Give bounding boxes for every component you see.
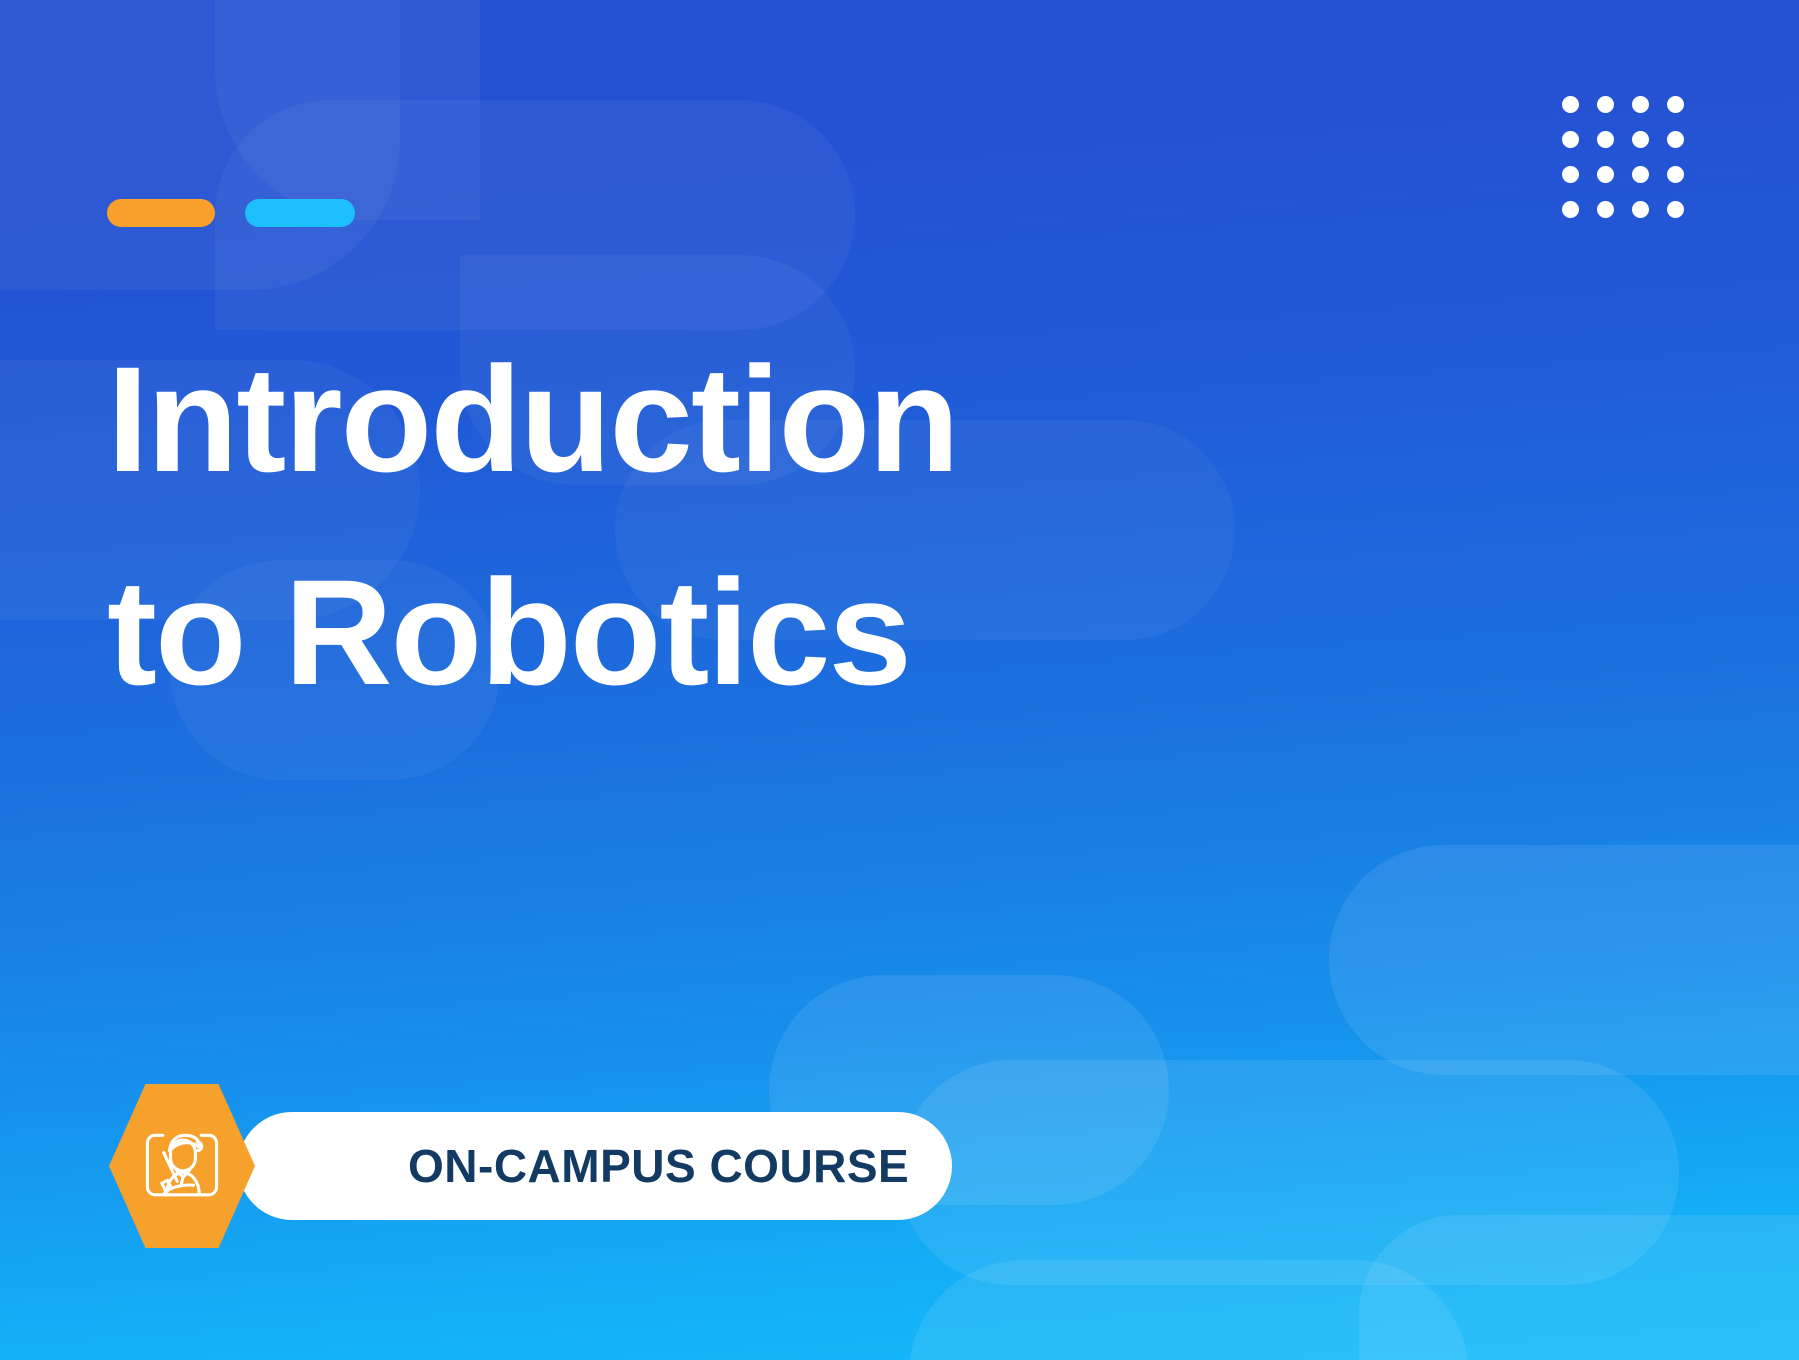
dot — [1667, 131, 1684, 148]
decor-blob-12 — [1359, 1215, 1799, 1360]
page-title-line-2: to Robotics — [107, 526, 1257, 739]
dot — [1597, 166, 1614, 183]
accent-bar-cyan — [245, 199, 355, 227]
dot — [1597, 131, 1614, 148]
instructor-icon — [134, 1118, 230, 1214]
accent-bars — [107, 199, 355, 227]
badge-label: ON-CAMPUS COURSE — [408, 1139, 909, 1193]
accent-bar-orange — [107, 199, 215, 227]
decor-blob-11 — [909, 1260, 1469, 1360]
dot-grid-icon — [1562, 96, 1702, 236]
badge-hexagon — [109, 1084, 255, 1248]
course-card: Introduction to Robotics ON-CAMPUS COURS… — [0, 0, 1799, 1360]
page-title-line-1: Introduction — [107, 313, 1257, 526]
dot — [1632, 166, 1649, 183]
dot — [1632, 96, 1649, 113]
dot — [1562, 201, 1579, 218]
decor-blob-1 — [0, 0, 400, 290]
decor-blob-8 — [1329, 845, 1799, 1075]
dot — [1667, 166, 1684, 183]
dot — [1632, 201, 1649, 218]
dot — [1562, 96, 1579, 113]
dot — [1632, 131, 1649, 148]
status-badge: ON-CAMPUS COURSE — [109, 1100, 255, 1232]
dot — [1667, 96, 1684, 113]
dot — [1597, 96, 1614, 113]
badge-pill: ON-CAMPUS COURSE — [238, 1112, 952, 1220]
page-title: Introduction to Robotics — [107, 313, 1257, 739]
dot — [1667, 201, 1684, 218]
dot — [1597, 201, 1614, 218]
decor-blob-9 — [899, 1060, 1679, 1285]
dot — [1562, 166, 1579, 183]
dot — [1562, 131, 1579, 148]
decor-blob-2 — [215, 0, 480, 220]
